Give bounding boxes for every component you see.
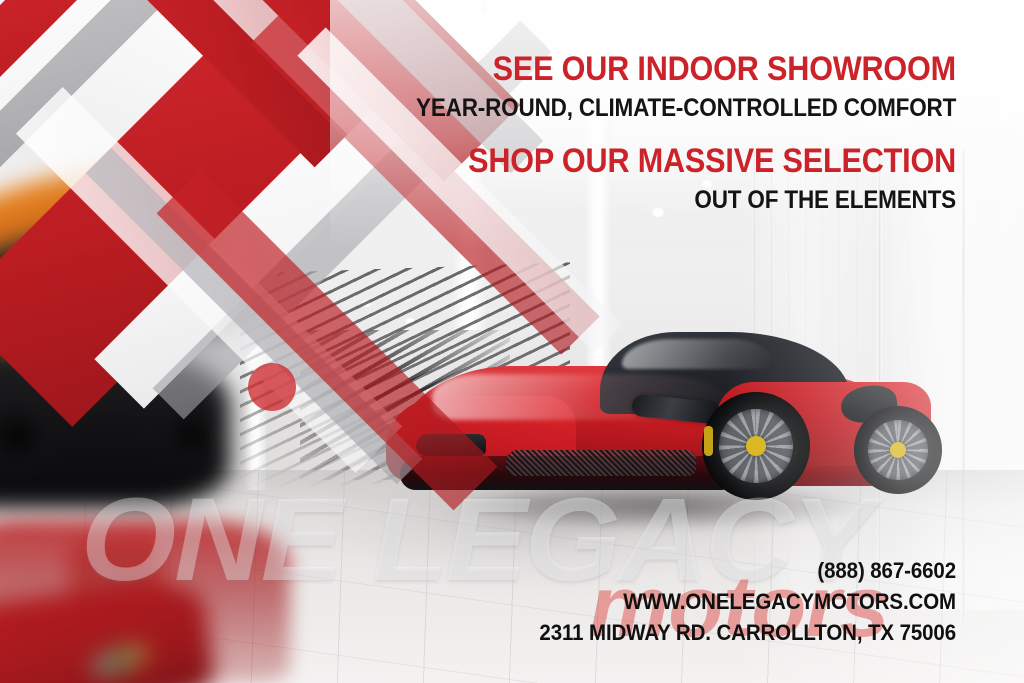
car-front-grille-mesh [506,450,696,476]
car-front-wheel [702,392,810,500]
car-windshield-highlight [622,339,772,369]
advertisement-banner: ONE LEGACY motors SEE OUR INDOOR SHOWROO… [0,0,1024,683]
ferrari-f8-car [386,330,946,535]
headline-copy-block: SEE OUR INDOOR SHOWROOM YEAR-ROUND, CLIM… [356,52,956,213]
headline-line-2: YEAR-ROUND, CLIMATE-CONTROLLED COMFORT [416,96,956,121]
foreground-car-floor-reflection [0,520,290,683]
headline-line-3: SHOP OUR MASSIVE SELECTION [416,144,956,178]
graphic-accent-dot [248,363,296,411]
brake-caliper [704,426,713,456]
wheel-center-hub [746,436,765,455]
contact-address[interactable]: 2311 MIDWAY RD. CARROLLTON, TX 75006 [398,622,956,644]
headline-line-4: OUT OF THE ELEMENTS [416,188,956,213]
contact-phone[interactable]: (888) 867-6602 [398,560,956,582]
contact-info-block: (888) 867-6602 WWW.ONELEGACYMOTORS.COM 2… [356,560,956,644]
contact-website[interactable]: WWW.ONELEGACYMOTORS.COM [398,591,956,613]
supercar-exhaust-port [164,408,218,462]
headline-line-1: SEE OUR INDOOR SHOWROOM [416,52,956,86]
car-rear-wheel [854,406,942,494]
wheel-center-hub [890,442,906,458]
